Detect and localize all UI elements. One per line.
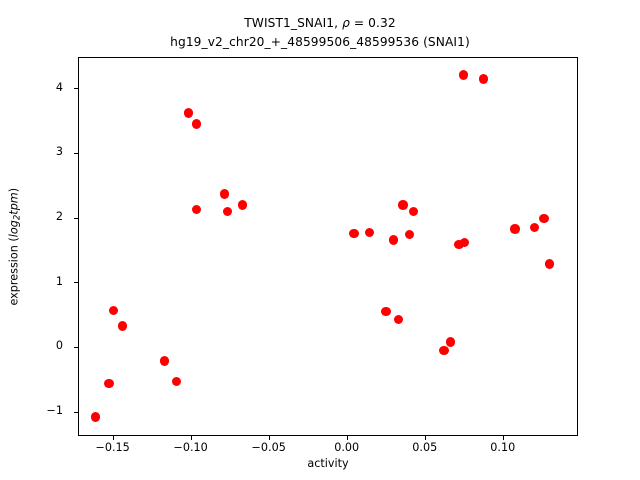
title-gene-pair: TWIST1_SNAI1, [244,16,342,30]
data-point [545,259,554,268]
x-axis-tick-label: 0.10 [468,441,538,454]
data-point [91,412,100,421]
x-axis-tick-label: −0.10 [156,441,226,454]
data-point [539,214,548,223]
x-axis-tick-label: 0.00 [312,441,382,454]
title-rho-symbol: ρ [342,16,350,30]
y-axis-label-subscript: 2 [13,215,23,220]
data-point [409,207,418,216]
data-point [479,74,488,83]
data-point [389,235,398,244]
y-axis-label-log: log [7,220,20,237]
data-point [394,315,403,324]
x-axis-tick-mark [269,436,270,440]
data-point [459,70,468,79]
data-point [109,306,118,315]
data-point [349,229,358,238]
data-point [172,377,181,386]
data-point [192,119,201,128]
data-point [104,379,113,388]
data-point [160,356,169,365]
data-point [365,228,374,237]
x-axis-tick-mark [503,436,504,440]
data-point [118,321,127,330]
y-axis-label-prefix: expression ( [7,237,20,305]
data-point [223,207,232,216]
title-rho-value: = 0.32 [350,16,396,30]
y-axis-tick-mark [74,347,78,348]
data-point [192,205,201,214]
y-axis-tick-mark [74,218,78,219]
chart-title-line-2: hg19_v2_chr20_+_48599506_48599536 (SNAI1… [0,33,640,52]
scatter-plot-figure: TWIST1_SNAI1, ρ = 0.32 hg19_v2_chr20_+_4… [0,0,640,480]
data-point [220,189,229,198]
data-point [446,337,455,346]
data-point [439,346,448,355]
chart-title-line-1: TWIST1_SNAI1, ρ = 0.32 [0,14,640,33]
data-point [381,307,390,316]
y-axis-tick-mark [74,88,78,89]
x-axis-tick-label: −0.05 [234,441,304,454]
y-axis-label-tpm: tpm [7,192,20,214]
y-axis-label-suffix: ) [7,188,20,192]
data-point [184,108,193,117]
data-point [460,238,469,247]
data-point [530,223,539,232]
x-axis-tick-mark [191,436,192,440]
x-axis-tick-mark [113,436,114,440]
plot-data-area [79,58,577,435]
data-point [405,230,414,239]
x-axis-tick-label: −0.15 [78,441,148,454]
data-point [510,224,519,233]
plot-axes-frame [78,57,578,436]
y-axis-tick-mark [74,412,78,413]
x-axis-tick-mark [425,436,426,440]
y-axis-tick-mark [74,282,78,283]
data-point [238,200,247,209]
x-axis-tick-label: 0.05 [390,441,460,454]
x-axis-label: activity [78,457,578,470]
y-axis-label-wrapper: expression (log2tpm) [0,57,22,436]
x-axis-tick-mark [347,436,348,440]
chart-title: TWIST1_SNAI1, ρ = 0.32 hg19_v2_chr20_+_4… [0,14,640,52]
y-axis-tick-mark [74,153,78,154]
y-axis-label: expression (log2tpm) [7,82,22,412]
data-point [398,200,407,209]
